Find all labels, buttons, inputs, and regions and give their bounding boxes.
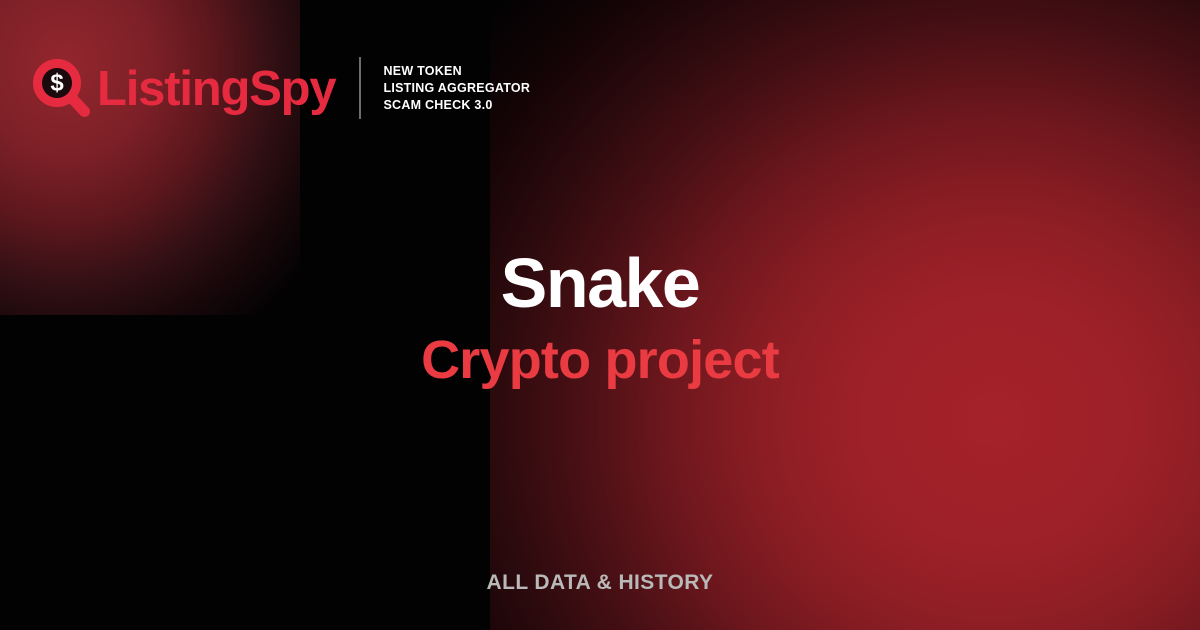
brand-tagline: NEW TOKEN LISTING AGGREGATOR SCAM CHECK … <box>383 63 530 114</box>
svg-text:$: $ <box>50 70 64 97</box>
tagline-line-1: NEW TOKEN <box>383 63 530 80</box>
page-title: Snake <box>0 246 1200 322</box>
tagline-line-3: SCAM CHECK 3.0 <box>383 97 530 114</box>
promo-banner: $ ListingSpy NEW TOKEN LISTING AGGREGATO… <box>0 0 1200 630</box>
hero-block: Snake Crypto project <box>0 246 1200 390</box>
brand-header: $ ListingSpy NEW TOKEN LISTING AGGREGATO… <box>33 57 530 119</box>
brand-logo[interactable]: $ ListingSpy <box>33 58 335 118</box>
page-subtitle: Crypto project <box>0 330 1200 390</box>
header-divider <box>359 57 361 119</box>
banner-footer: ALL DATA & HISTORY <box>0 571 1200 595</box>
brand-wordmark: ListingSpy <box>97 65 335 114</box>
footer-text: ALL DATA & HISTORY <box>487 571 714 594</box>
magnifier-dollar-icon: $ <box>33 58 91 118</box>
tagline-line-2: LISTING AGGREGATOR <box>383 80 530 97</box>
